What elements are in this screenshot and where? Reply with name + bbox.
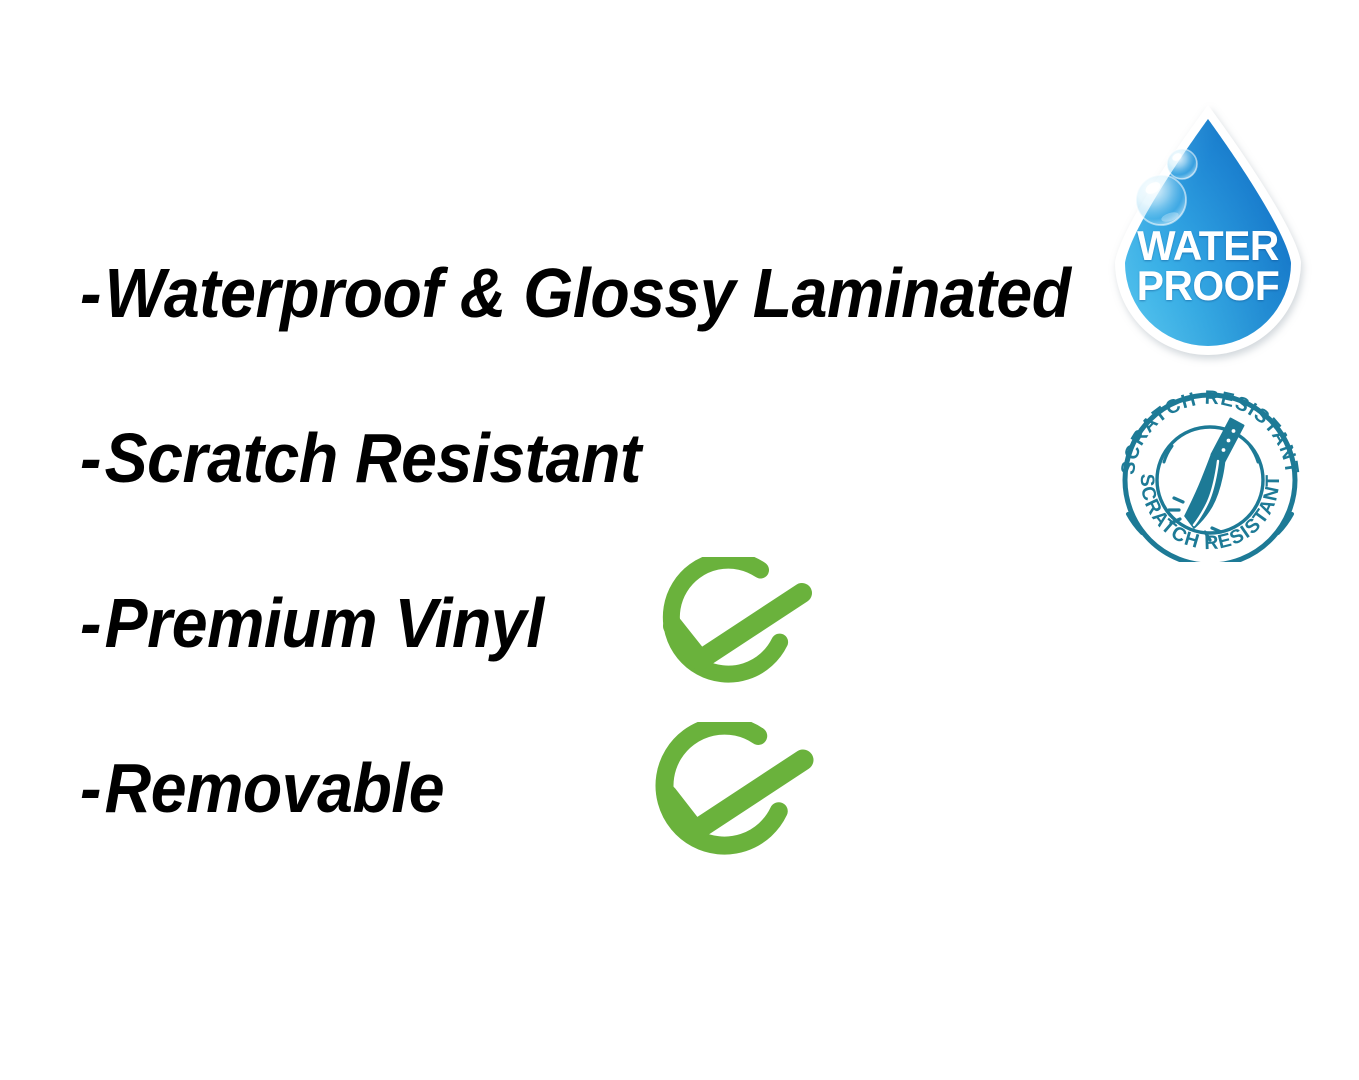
feature-list: -Waterproof & Glossy Laminated -Scratch … <box>0 0 1100 1080</box>
feature-bullet-dash: - <box>80 588 101 658</box>
feature-label: Scratch Resistant <box>105 419 641 497</box>
check-circle-icon <box>640 557 830 707</box>
droplet-sheen <box>1125 119 1291 346</box>
check-circle-icon <box>632 722 832 882</box>
feature-callout-graphic: -Waterproof & Glossy Laminated -Scratch … <box>0 0 1359 1080</box>
feature-item-removable: -Removable <box>80 753 444 823</box>
scratch-resistant-stamp-icon: SCRATCH RESISTANT SCRATCH RESISTANT <box>1112 382 1308 562</box>
water-droplet-icon <box>1098 102 1318 367</box>
feature-item-premium-vinyl: -Premium Vinyl <box>80 588 544 658</box>
feature-item-scratch-resistant: -Scratch Resistant <box>80 423 641 493</box>
feature-label: Removable <box>105 749 444 827</box>
feature-item-waterproof: -Waterproof & Glossy Laminated <box>80 258 1071 328</box>
feature-bullet-dash: - <box>80 258 101 328</box>
feature-bullet-dash: - <box>80 423 101 493</box>
feature-label: Waterproof & Glossy Laminated <box>105 254 1071 332</box>
feature-label: Premium Vinyl <box>105 584 544 662</box>
waterproof-badge: WATER PROOF <box>1098 102 1318 367</box>
scratch-resistant-badge: SCRATCH RESISTANT SCRATCH RESISTANT <box>1112 382 1308 562</box>
feature-bullet-dash: - <box>80 753 101 823</box>
